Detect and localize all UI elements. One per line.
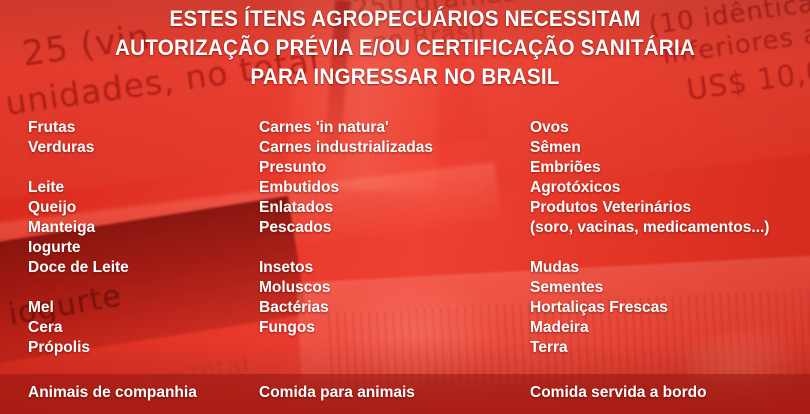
bottom-category-row: Animais de companhia Comida para animais… [0,382,810,412]
list-item: Verduras [28,138,253,158]
list-item: Própolis [28,338,253,358]
list-item: Embutidos [259,178,524,198]
list-item: Fungos [259,318,524,338]
list-item: Produtos Veterinários [530,198,805,218]
group-spacer [28,158,253,178]
list-item: Cera [28,318,253,338]
group-spacer [530,238,805,258]
item-column-2: Carnes 'in natura'Carnes industrializada… [259,118,524,338]
list-item: Doce de Leite [28,258,253,278]
item-columns: FrutasVerdurasLeiteQueijoManteigaIogurte… [0,118,810,373]
list-item: Carnes 'in natura' [259,118,524,138]
slide-root: 25 (vin unidades, no total 250 gramas no… [0,0,810,414]
slide-title: ESTES ÍTENS AGROPECUÁRIOS NECESSITAM AUT… [0,4,810,91]
title-line-2: AUTORIZAÇÃO PRÉVIA E/OU CERTIFICAÇÃO SAN… [32,33,777,62]
list-item: Manteiga [28,218,253,238]
list-item: Insetos [259,258,524,278]
list-item: Presunto [259,158,524,178]
list-item: Ovos [530,118,805,138]
list-item: Moluscos [259,278,524,298]
item-column-3: OvosSêmenEmbriõesAgrotóxicosProdutos Vet… [530,118,805,358]
list-item: Queijo [28,198,253,218]
list-item: Enlatados [259,198,524,218]
list-item: Madeira [530,318,805,338]
item-column-1: FrutasVerdurasLeiteQueijoManteigaIogurte… [28,118,253,358]
list-item: Carnes industrializadas [259,138,524,158]
list-item: Sêmen [530,138,805,158]
title-line-1: ESTES ÍTENS AGROPECUÁRIOS NECESSITAM [32,4,777,33]
list-item: Iogurte [28,238,253,258]
list-item: Frutas [28,118,253,138]
list-item: Terra [530,338,805,358]
bottom-item-onboard: Comida servida a bordo [530,382,707,404]
list-item: Pescados [259,218,524,238]
list-item: Bactérias [259,298,524,318]
title-line-3: PARA INGRESSAR NO BRASIL [32,62,777,91]
bottom-item-pet-food: Comida para animais [259,382,415,404]
bottom-item-pets: Animais de companhia [28,382,197,404]
group-spacer [259,238,524,258]
list-item: Agrotóxicos [530,178,805,198]
list-item: Mel [28,298,253,318]
list-item: Embriões [530,158,805,178]
list-item: Hortaliças Frescas [530,298,805,318]
list-item: Mudas [530,258,805,278]
list-item: (soro, vacinas, medicamentos...) [530,218,805,238]
list-item: Leite [28,178,253,198]
list-item: Sementes [530,278,805,298]
group-spacer [28,278,253,298]
